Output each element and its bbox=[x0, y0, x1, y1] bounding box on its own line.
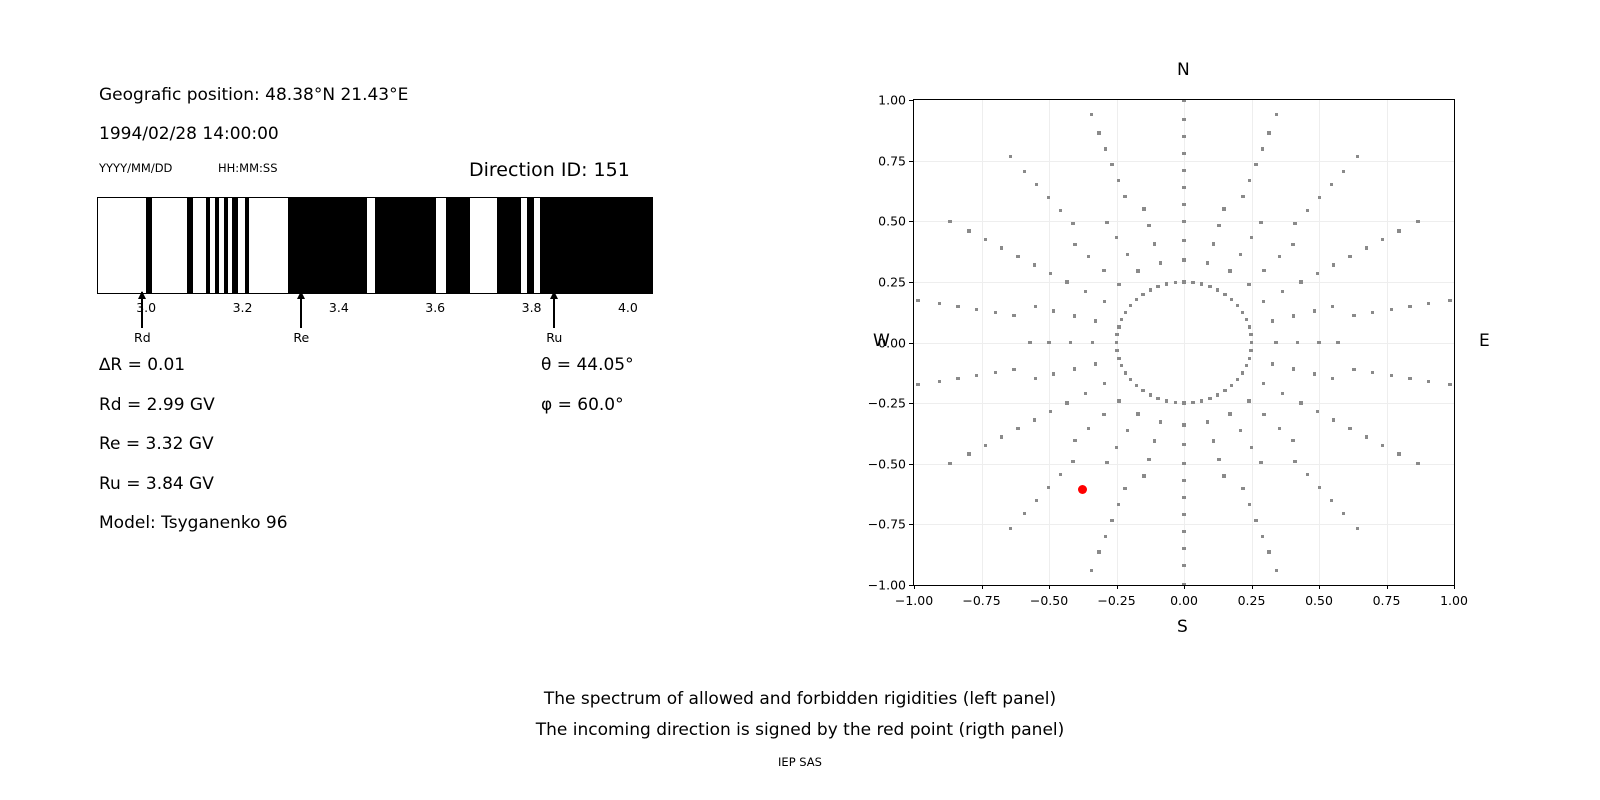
direction-grid-dot bbox=[1292, 314, 1295, 317]
direction-grid-dot bbox=[1247, 283, 1250, 286]
direction-grid-dot bbox=[1182, 479, 1185, 482]
direction-grid-dot bbox=[1182, 152, 1185, 155]
direction-grid-dot bbox=[1427, 302, 1430, 305]
direction-grid-dot bbox=[1136, 412, 1139, 415]
compass-label-east: E bbox=[1479, 331, 1490, 351]
direction-grid-dot bbox=[1318, 486, 1321, 489]
direction-grid-dot bbox=[1390, 374, 1393, 377]
direction-grid-dot bbox=[1059, 209, 1062, 212]
spectrum-tick-label: 3.4 bbox=[329, 300, 349, 315]
direction-grid-dot bbox=[1153, 242, 1156, 245]
direction-grid-dot bbox=[1115, 236, 1118, 239]
x-tick-label: −1.00 bbox=[895, 593, 933, 608]
direction-grid-dot bbox=[1174, 401, 1177, 404]
marker-label: Rd bbox=[134, 330, 151, 345]
gridline-horizontal bbox=[914, 161, 1454, 162]
direction-grid-dot bbox=[1069, 341, 1072, 344]
direction-grid-dot bbox=[1416, 462, 1419, 465]
direction-grid-dot bbox=[1097, 131, 1100, 134]
direction-grid-dot bbox=[1182, 443, 1185, 446]
direction-grid-dot bbox=[1352, 368, 1355, 371]
x-tick-label: 0.00 bbox=[1170, 593, 1198, 608]
direction-grid-dot bbox=[1241, 371, 1244, 374]
direction-grid-dot bbox=[1156, 285, 1159, 288]
direction-grid-dot bbox=[1087, 255, 1090, 258]
direction-grid-dot bbox=[1182, 423, 1185, 426]
direction-grid-dot bbox=[1023, 170, 1026, 173]
direction-grid-dot bbox=[1427, 380, 1430, 383]
y-tick-mark bbox=[909, 585, 913, 586]
direction-grid-dot bbox=[1126, 429, 1129, 432]
direction-grid-dot bbox=[1000, 435, 1003, 438]
y-tick-label: 0.25 bbox=[878, 274, 906, 289]
direction-grid-dot bbox=[1117, 503, 1120, 506]
direction-grid-dot bbox=[948, 462, 951, 465]
spectrum-tick-label: 3.6 bbox=[425, 300, 445, 315]
direction-grid-dot bbox=[1115, 446, 1118, 449]
direction-grid-dot bbox=[1239, 429, 1242, 432]
direction-grid-dot bbox=[956, 377, 959, 380]
direction-grid-dot bbox=[1296, 341, 1299, 344]
direction-grid-dot bbox=[1245, 364, 1248, 367]
direction-grid-dot bbox=[1123, 195, 1126, 198]
direction-polar-plot: N W E S −1.00−0.75−0.50−0.250.000.250.50… bbox=[820, 40, 1580, 660]
y-tick-label: 0.75 bbox=[878, 153, 906, 168]
direction-grid-dot bbox=[1371, 371, 1374, 374]
gridline-horizontal bbox=[914, 343, 1454, 344]
direction-grid-dot bbox=[1149, 288, 1152, 291]
marker-label: Ru bbox=[546, 330, 562, 345]
time-format-hint: HH:MM:SS bbox=[218, 161, 278, 175]
direction-grid-dot bbox=[1261, 535, 1264, 538]
x-tick-label: −0.75 bbox=[962, 593, 1000, 608]
direction-grid-dot bbox=[1254, 519, 1257, 522]
x-tick-mark bbox=[1184, 585, 1185, 589]
direction-grid-dot bbox=[1330, 183, 1333, 186]
direction-grid-dot bbox=[1267, 550, 1270, 553]
y-tick-label: 0.00 bbox=[878, 335, 906, 350]
direction-grid-dot bbox=[1120, 318, 1123, 321]
direction-grid-dot bbox=[938, 302, 941, 305]
direction-grid-dot bbox=[1306, 473, 1309, 476]
direction-grid-dot bbox=[1278, 427, 1281, 430]
y-tick-label: −0.75 bbox=[868, 517, 906, 532]
direction-grid-dot bbox=[1228, 412, 1231, 415]
direction-grid-dot bbox=[1316, 272, 1319, 275]
direction-grid-dot bbox=[1313, 372, 1316, 375]
direction-grid-dot bbox=[1206, 420, 1209, 423]
direction-grid-dot bbox=[1212, 439, 1215, 442]
direction-grid-dot bbox=[1293, 222, 1296, 225]
direction-grid-dot bbox=[1316, 410, 1319, 413]
direction-grid-dot bbox=[1182, 530, 1185, 533]
direction-grid-dot bbox=[1352, 314, 1355, 317]
direction-grid-dot bbox=[1182, 513, 1185, 516]
direction-grid-dot bbox=[1262, 382, 1265, 385]
direction-grid-dot bbox=[1110, 519, 1113, 522]
direction-grid-dot bbox=[1448, 383, 1451, 386]
forbidden-band bbox=[497, 198, 521, 293]
parameter-left-2: Re = 3.32 GV bbox=[99, 434, 214, 454]
direction-grid-dot bbox=[1090, 569, 1093, 572]
direction-grid-dot bbox=[1291, 243, 1294, 246]
direction-grid-dot bbox=[1147, 224, 1150, 227]
spectrum-tick-label: 4.0 bbox=[618, 300, 638, 315]
direction-grid-dot bbox=[1332, 263, 1335, 266]
direction-grid-dot bbox=[1159, 261, 1162, 264]
forbidden-band bbox=[288, 198, 367, 293]
direction-grid-dot bbox=[1052, 372, 1055, 375]
parameter-left-1: Rd = 2.99 GV bbox=[99, 395, 215, 415]
y-tick-mark bbox=[909, 100, 913, 101]
direction-grid-dot bbox=[1397, 452, 1400, 455]
direction-grid-dot bbox=[1159, 420, 1162, 423]
direction-grid-dot bbox=[1012, 314, 1015, 317]
direction-grid-dot bbox=[1052, 309, 1055, 312]
y-tick-mark bbox=[909, 282, 913, 283]
direction-grid-dot bbox=[1275, 113, 1278, 116]
direction-grid-dot bbox=[1033, 263, 1036, 266]
direction-grid-dot bbox=[1016, 427, 1019, 430]
direction-grid-dot bbox=[1267, 131, 1270, 134]
direction-grid-dot bbox=[1271, 362, 1274, 365]
direction-grid-dot bbox=[1033, 418, 1036, 421]
direction-grid-dot bbox=[1262, 269, 1265, 272]
direction-grid-dot bbox=[1182, 280, 1185, 283]
direction-grid-dot bbox=[1023, 512, 1026, 515]
direction-grid-dot bbox=[1228, 269, 1231, 272]
forbidden-band bbox=[375, 198, 437, 293]
direction-grid-dot bbox=[1381, 444, 1384, 447]
x-tick-label: 0.25 bbox=[1238, 593, 1266, 608]
parameter-left-0: ∆R = 0.01 bbox=[99, 355, 185, 375]
direction-grid-dot bbox=[1115, 341, 1118, 344]
direction-grid-dot bbox=[1142, 474, 1145, 477]
direction-grid-dot bbox=[1249, 333, 1252, 336]
direction-grid-dot bbox=[1241, 195, 1244, 198]
direction-grid-dot bbox=[1247, 399, 1250, 402]
y-tick-label: 1.00 bbox=[878, 93, 906, 108]
direction-grid-dot bbox=[1365, 435, 1368, 438]
forbidden-band bbox=[245, 198, 249, 293]
direction-grid-dot bbox=[1200, 399, 1203, 402]
direction-grid-dot bbox=[1104, 535, 1107, 538]
direction-grid-dot bbox=[1239, 253, 1242, 256]
y-tick-mark bbox=[909, 464, 913, 465]
direction-grid-dot bbox=[1149, 393, 1152, 396]
direction-grid-dot bbox=[1208, 285, 1211, 288]
rigidity-spectrum-axis: 3.03.23.43.63.84.0RdReRu bbox=[97, 294, 653, 354]
direction-grid-dot bbox=[1182, 186, 1185, 189]
datetime-label: 1994/02/28 14:00:00 bbox=[99, 124, 279, 144]
direction-grid-dot bbox=[938, 380, 941, 383]
direction-grid-dot bbox=[1182, 135, 1185, 138]
direction-grid-dot bbox=[1223, 293, 1226, 296]
direction-grid-dot bbox=[1182, 496, 1185, 499]
direction-grid-dot bbox=[967, 229, 970, 232]
direction-grid-dot bbox=[1117, 179, 1120, 182]
direction-grid-dot bbox=[1262, 413, 1265, 416]
direction-grid-dot bbox=[1222, 474, 1225, 477]
direction-grid-dot bbox=[1073, 314, 1076, 317]
direction-grid-dot bbox=[1009, 527, 1012, 530]
direction-grid-dot bbox=[1117, 399, 1120, 402]
direction-grid-dot bbox=[1073, 367, 1076, 370]
x-tick-mark bbox=[1319, 585, 1320, 589]
left-panel: Geografic position: 48.38°N 21.43°E 1994… bbox=[0, 0, 800, 680]
compass-label-north: N bbox=[1177, 60, 1190, 80]
direction-grid-dot bbox=[1182, 169, 1185, 172]
direction-grid-dot bbox=[1212, 242, 1215, 245]
direction-grid-dot bbox=[984, 444, 987, 447]
direction-grid-dot bbox=[1156, 397, 1159, 400]
direction-grid-dot bbox=[1182, 564, 1185, 567]
x-tick-mark bbox=[1252, 585, 1253, 589]
x-tick-label: −0.25 bbox=[1097, 593, 1135, 608]
direction-grid-dot bbox=[1141, 293, 1144, 296]
direction-grid-dot bbox=[1348, 427, 1351, 430]
direction-grid-dot bbox=[1049, 410, 1052, 413]
rigidity-spectrum-bar bbox=[97, 197, 653, 294]
parameter-right-0: θ = 44.05° bbox=[541, 355, 634, 375]
x-tick-label: 0.75 bbox=[1373, 593, 1401, 608]
direction-grid-dot bbox=[1274, 341, 1277, 344]
direction-grid-dot bbox=[1115, 333, 1118, 336]
direction-grid-dot bbox=[1299, 401, 1302, 404]
direction-grid-dot bbox=[1241, 487, 1244, 490]
caption-line-2: The incoming direction is signed by the … bbox=[0, 715, 1600, 746]
direction-grid-dot bbox=[1182, 203, 1185, 206]
direction-grid-dot bbox=[1275, 569, 1278, 572]
y-tick-mark bbox=[909, 343, 913, 344]
x-tick-label: −0.50 bbox=[1030, 593, 1068, 608]
x-tick-mark bbox=[1387, 585, 1388, 589]
direction-grid-dot bbox=[1103, 382, 1106, 385]
direction-grid-dot bbox=[948, 220, 951, 223]
direction-grid-dot bbox=[1250, 446, 1253, 449]
direction-grid-dot bbox=[994, 371, 997, 374]
direction-grid-dot bbox=[1142, 207, 1145, 210]
direction-grid-dot bbox=[1259, 461, 1262, 464]
direction-grid-dot bbox=[1230, 384, 1233, 387]
direction-grid-dot bbox=[1071, 460, 1074, 463]
marker-arrowhead-icon bbox=[550, 291, 558, 299]
direction-grid-dot bbox=[1371, 311, 1374, 314]
direction-grid-dot bbox=[1000, 246, 1003, 249]
direction-grid-dot bbox=[1065, 280, 1068, 283]
direction-grid-dot bbox=[1124, 311, 1127, 314]
direction-grid-dot bbox=[1230, 298, 1233, 301]
direction-grid-dot bbox=[1110, 163, 1113, 166]
direction-grid-dot bbox=[1059, 473, 1062, 476]
direction-grid-dot bbox=[1087, 427, 1090, 430]
direction-grid-dot bbox=[1291, 439, 1294, 442]
direction-grid-dot bbox=[975, 308, 978, 311]
direction-grid-dot bbox=[967, 452, 970, 455]
direction-grid-dot bbox=[1278, 255, 1281, 258]
direction-grid-dot bbox=[1071, 222, 1074, 225]
caption-line-1: The spectrum of allowed and forbidden ri… bbox=[0, 684, 1600, 715]
direction-grid-dot bbox=[1281, 290, 1284, 293]
direction-grid-dot bbox=[1141, 389, 1144, 392]
direction-grid-dot bbox=[1248, 357, 1251, 360]
x-tick-mark bbox=[982, 585, 983, 589]
direction-grid-dot bbox=[1416, 220, 1419, 223]
rigidity-spectrum bbox=[97, 197, 653, 294]
direction-grid-dot bbox=[1065, 401, 1068, 404]
x-tick-mark bbox=[914, 585, 915, 589]
direction-grid-dot bbox=[1012, 368, 1015, 371]
direction-grid-dot bbox=[1250, 236, 1253, 239]
direction-grid-dot bbox=[1248, 325, 1251, 328]
direction-grid-dot bbox=[1299, 280, 1302, 283]
date-format-hint: YYYY/MM/DD bbox=[99, 161, 172, 175]
direction-grid-dot bbox=[1135, 384, 1138, 387]
direction-grid-dot bbox=[1281, 392, 1284, 395]
direction-grid-dot bbox=[1356, 527, 1359, 530]
direction-grid-dot bbox=[1248, 179, 1251, 182]
direction-grid-dot bbox=[1182, 401, 1185, 404]
direction-grid-dot bbox=[956, 305, 959, 308]
direction-grid-dot bbox=[1191, 401, 1194, 404]
x-tick-label: 1.00 bbox=[1440, 593, 1468, 608]
direction-grid-dot bbox=[1117, 357, 1120, 360]
footer-credit: IEP SAS bbox=[0, 755, 1600, 769]
marker-arrowhead-icon bbox=[138, 291, 146, 299]
direction-grid-dot bbox=[1317, 341, 1320, 344]
direction-grid-dot bbox=[916, 383, 919, 386]
direction-grid-dot bbox=[1217, 224, 1220, 227]
direction-grid-dot bbox=[1254, 163, 1257, 166]
direction-grid-dot bbox=[975, 374, 978, 377]
direction-grid-dot bbox=[1117, 325, 1120, 328]
direction-grid-dot bbox=[1236, 378, 1239, 381]
parameter-right-1: φ = 60.0° bbox=[541, 395, 624, 415]
direction-grid-dot bbox=[1249, 349, 1252, 352]
direction-grid-dot bbox=[994, 311, 997, 314]
direction-grid-dot bbox=[1397, 229, 1400, 232]
y-tick-mark bbox=[909, 524, 913, 525]
direction-grid-dot bbox=[1153, 439, 1156, 442]
direction-grid-dot bbox=[916, 299, 919, 302]
direction-grid-dot bbox=[1135, 298, 1138, 301]
direction-grid-dot bbox=[1217, 458, 1220, 461]
direction-grid-dot bbox=[1091, 341, 1094, 344]
forbidden-band bbox=[206, 198, 210, 293]
direction-grid-dot bbox=[1136, 269, 1139, 272]
direction-grid-dot bbox=[1103, 300, 1106, 303]
direction-grid-dot bbox=[1250, 341, 1253, 344]
direction-grid-dot bbox=[1182, 118, 1185, 121]
forbidden-band bbox=[215, 198, 219, 293]
direction-grid-dot bbox=[1241, 311, 1244, 314]
y-tick-label: −1.00 bbox=[868, 578, 906, 593]
direction-grid-dot bbox=[1262, 300, 1265, 303]
y-tick-label: −0.25 bbox=[868, 396, 906, 411]
direction-grid-dot bbox=[1331, 305, 1334, 308]
direction-grid-dot bbox=[1182, 547, 1185, 550]
direction-grid-dot bbox=[1047, 196, 1050, 199]
direction-grid-dot bbox=[1117, 283, 1120, 286]
direction-grid-dot bbox=[1165, 399, 1168, 402]
direction-grid-dot bbox=[1261, 147, 1264, 150]
forbidden-band bbox=[224, 198, 228, 293]
direction-grid-dot bbox=[1094, 319, 1097, 322]
direction-grid-dot bbox=[1206, 261, 1209, 264]
compass-label-south: S bbox=[1177, 617, 1188, 637]
direction-grid-dot bbox=[1313, 309, 1316, 312]
forbidden-band bbox=[187, 198, 193, 293]
direction-grid-dot bbox=[1293, 460, 1296, 463]
direction-grid-dot bbox=[1342, 512, 1345, 515]
incoming-direction-point[interactable] bbox=[1078, 485, 1087, 494]
direction-grid-dot bbox=[1200, 282, 1203, 285]
direction-grid-dot bbox=[1009, 155, 1012, 158]
forbidden-band bbox=[146, 198, 152, 293]
x-tick-label: 0.50 bbox=[1305, 593, 1333, 608]
direction-grid-dot bbox=[1336, 341, 1339, 344]
direction-grid-dot bbox=[1365, 246, 1368, 249]
direction-grid-dot bbox=[1182, 220, 1185, 223]
direction-grid-dot bbox=[1236, 304, 1239, 307]
y-tick-label: −0.50 bbox=[868, 456, 906, 471]
direction-grid-dot bbox=[1182, 239, 1185, 242]
direction-grid-dot bbox=[1115, 349, 1118, 352]
direction-grid-dot bbox=[1120, 364, 1123, 367]
y-tick-mark bbox=[909, 221, 913, 222]
forbidden-band bbox=[232, 198, 237, 293]
polar-plot-frame bbox=[913, 99, 1455, 586]
direction-grid-dot bbox=[1381, 238, 1384, 241]
figure-caption: The spectrum of allowed and forbidden ri… bbox=[0, 684, 1600, 746]
direction-grid-dot bbox=[1073, 243, 1076, 246]
direction-grid-dot bbox=[1016, 255, 1019, 258]
direction-grid-dot bbox=[1084, 290, 1087, 293]
direction-grid-dot bbox=[1028, 341, 1031, 344]
direction-grid-dot bbox=[1271, 319, 1274, 322]
direction-grid-dot bbox=[1102, 269, 1105, 272]
direction-grid-dot bbox=[1259, 221, 1262, 224]
parameter-left-3: Ru = 3.84 GV bbox=[99, 474, 214, 494]
direction-grid-dot bbox=[1182, 99, 1185, 102]
direction-grid-dot bbox=[1292, 367, 1295, 370]
direction-grid-dot bbox=[1306, 209, 1309, 212]
direction-grid-dot bbox=[1102, 413, 1105, 416]
direction-grid-dot bbox=[1129, 304, 1132, 307]
direction-grid-dot bbox=[1182, 462, 1185, 465]
direction-grid-dot bbox=[1182, 258, 1185, 261]
direction-grid-dot bbox=[1124, 371, 1127, 374]
direction-grid-dot bbox=[1174, 281, 1177, 284]
direction-grid-dot bbox=[1318, 196, 1321, 199]
direction-grid-dot bbox=[1097, 550, 1100, 553]
direction-grid-dot bbox=[1073, 439, 1076, 442]
direction-grid-dot bbox=[1165, 282, 1168, 285]
direction-grid-dot bbox=[1126, 253, 1129, 256]
marker-label: Re bbox=[293, 330, 309, 345]
gridline-horizontal bbox=[914, 524, 1454, 525]
direction-grid-dot bbox=[1034, 377, 1037, 380]
direction-grid-dot bbox=[1123, 487, 1126, 490]
direction-grid-dot bbox=[1348, 255, 1351, 258]
direction-grid-dot bbox=[1035, 499, 1038, 502]
direction-grid-dot bbox=[1223, 389, 1226, 392]
spectrum-tick-label: 3.2 bbox=[233, 300, 253, 315]
direction-grid-dot bbox=[1034, 305, 1037, 308]
direction-grid-dot bbox=[1330, 499, 1333, 502]
x-tick-mark bbox=[1049, 585, 1050, 589]
direction-grid-dot bbox=[1094, 362, 1097, 365]
